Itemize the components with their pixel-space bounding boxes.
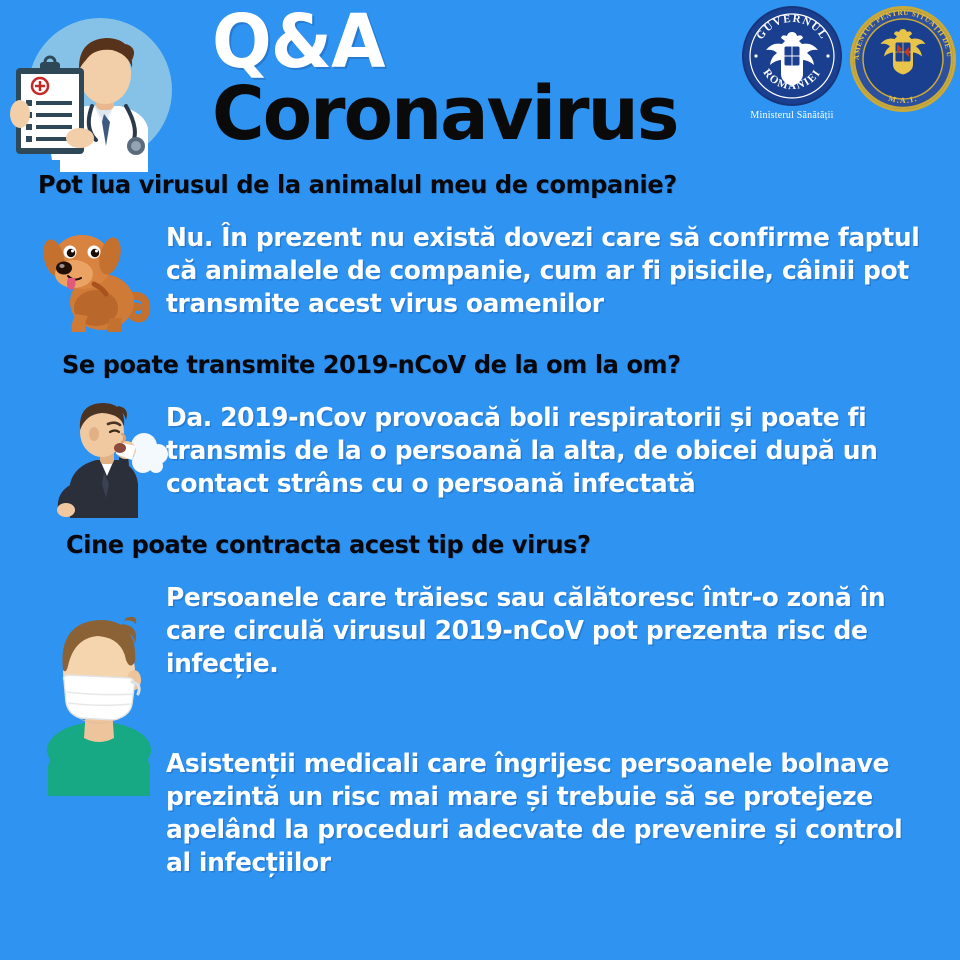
answer-travel-risk: Persoanele care trăiesc sau călătoresc î… <box>166 582 924 681</box>
title-qa: Q&A <box>212 4 687 80</box>
doctor-illustration <box>8 10 180 172</box>
logo-group: GUVERNUL ROMÂNIEI <box>728 6 954 138</box>
masked-person-illustration <box>34 600 164 796</box>
poster-title-block: Q&A Coronavirus <box>212 4 712 154</box>
emergency-seal-icon: DEPARTAMENTUL PENTRU SITUAȚII DE URGENȚĂ… <box>850 6 956 112</box>
dog-illustration <box>26 218 158 340</box>
question-who-can-contract: Cine poate contracta acest tip de virus? <box>66 530 892 560</box>
government-seal-icon: GUVERNUL ROMÂNIEI <box>742 6 842 106</box>
answer-human-to-human: Da. 2019-nCov provoacă boli respiratorii… <box>166 402 915 501</box>
answer-pets: Nu. În prezent nu există dovezi care să … <box>166 222 921 321</box>
government-logo: GUVERNUL ROMÂNIEI <box>740 6 844 121</box>
coughing-man-illustration <box>44 392 172 518</box>
question-human-to-human: Se poate transmite 2019-nCoV de la om la… <box>62 350 888 380</box>
title-coronavirus: Coronavirus <box>212 74 697 154</box>
emergency-department-logo: DEPARTAMENTUL PENTRU SITUAȚII DE URGENȚĂ… <box>850 6 954 112</box>
answer-medical-staff-risk: Asistenții medicali care îngrijesc perso… <box>166 748 924 880</box>
coronavirus-qa-poster: Q&A Coronavirus GUVERNUL <box>0 0 960 960</box>
government-logo-caption: Ministerul Sănătății <box>740 110 844 121</box>
poster-header: Q&A Coronavirus GUVERNUL <box>0 0 960 172</box>
question-pets: Pot lua virusul de la animalul meu de co… <box>38 170 864 200</box>
